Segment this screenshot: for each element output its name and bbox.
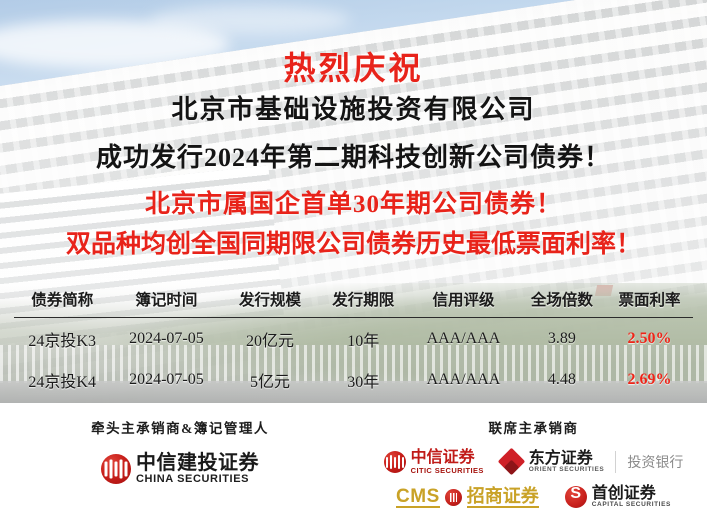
logo-citic-securities[interactable]: 中信证券 CITIC SECURITIES <box>384 450 484 475</box>
headline-celebration: 热烈庆祝 <box>0 52 707 84</box>
col-header-tenor: 发行期限 <box>317 286 409 318</box>
bond-table-head: 债券简称 簿记时间 发行规模 发行期限 信用评级 全场倍数 票面利率 <box>14 286 693 318</box>
table-header-row: 债券简称 簿记时间 发行规模 发行期限 信用评级 全场倍数 票面利率 <box>14 286 693 318</box>
table-row: 24京投K3 2024-07-05 20亿元 10年 AAA/AAA 3.89 … <box>14 318 693 360</box>
citic-seal-icon <box>384 451 406 473</box>
col-header-bond-name: 债券简称 <box>14 286 110 318</box>
cell-coupon-rate: 2.50% <box>606 318 693 360</box>
cell-size: 20亿元 <box>222 318 317 360</box>
joint-underwriters-column: 联席主承销商 中信证券 CITIC SECURIT <box>360 403 707 509</box>
col-header-multiple: 全场倍数 <box>518 286 606 318</box>
logo-text-cn: 中信建投证券 <box>136 453 259 474</box>
cell-bond-name: 24京投K3 <box>14 318 110 360</box>
cell-tenor: 30年 <box>317 359 409 400</box>
logo-orient-securities[interactable]: 东方证券 ORIENT SECURITIES 投资银行 <box>500 450 684 474</box>
col-header-rating: 信用评级 <box>409 286 518 318</box>
cell-rating: AAA/AAA <box>409 318 518 360</box>
lead-underwriter-logo-row: 中信建投证券 CHINA SECURITIES <box>0 453 360 486</box>
joint-underwriter-logo-row-2: CMS 招商证券 首创证券 CAPITAL SECURITIES <box>360 486 707 510</box>
cell-bond-name: 24京投K4 <box>14 359 110 400</box>
headline-issuance-detail: 成功发行2024年第二期科技创新公司债券！ <box>0 145 707 171</box>
logo-china-securities[interactable]: 中信建投证券 CHINA SECURITIES <box>101 453 259 486</box>
cell-size: 5亿元 <box>222 359 317 400</box>
citic-seal-icon <box>101 454 131 484</box>
logo-suffix-investment-banking: 投资银行 <box>627 452 683 472</box>
joint-underwriter-title: 联席主承销商 <box>360 403 707 437</box>
bond-table-body: 24京投K3 2024-07-05 20亿元 10年 AAA/AAA 3.89 … <box>14 318 693 401</box>
cell-multiple: 4.48 <box>518 359 606 400</box>
logo-text-en: CHINA SECURITIES <box>136 474 249 486</box>
cell-book-date: 2024-07-05 <box>110 359 222 400</box>
logo-prefix-cms: CMS <box>396 487 440 509</box>
capital-s-icon <box>565 486 587 508</box>
logo-text-en: CAPITAL SECURITIES <box>592 502 671 509</box>
bond-issuance-poster: 热烈庆祝 北京市基础设施投资有限公司 成功发行2024年第二期科技创新公司债券！… <box>0 0 707 518</box>
headline-issuer-name: 北京市基础设施投资有限公司 <box>0 97 707 123</box>
cell-rating: AAA/AAA <box>409 359 518 400</box>
table-row: 24京投K4 2024-07-05 5亿元 30年 AAA/AAA 4.48 2… <box>14 359 693 400</box>
logo-text-cn: 东方证券 <box>529 451 593 468</box>
joint-underwriter-logo-row-1: 中信证券 CITIC SECURITIES 东方证券 ORIENT SECURI… <box>360 450 707 475</box>
cell-tenor: 10年 <box>317 318 409 360</box>
col-header-coupon-rate: 票面利率 <box>606 286 693 318</box>
logo-text-en: CITIC SECURITIES <box>411 467 484 475</box>
logo-text-cn: 招商证券 <box>467 487 539 508</box>
bond-table-container: 债券简称 簿记时间 发行规模 发行期限 信用评级 全场倍数 票面利率 24京投K… <box>14 286 693 400</box>
logo-text-cn: 中信证券 <box>411 450 475 467</box>
headline-lowest-coupon: 双品种均创全国同期限公司债券历史最低票面利率！ <box>0 232 707 257</box>
bond-table: 债券简称 簿记时间 发行规模 发行期限 信用评级 全场倍数 票面利率 24京投K… <box>14 286 693 400</box>
headline-first-30y-bond: 北京市属国企首单30年期公司债券！ <box>0 192 707 217</box>
logo-capital-securities[interactable]: 首创证券 CAPITAL SECURITIES <box>565 486 671 510</box>
col-header-size: 发行规模 <box>222 286 317 318</box>
cell-multiple: 3.89 <box>518 318 606 360</box>
logo-cms-china-merchants-securities[interactable]: CMS 招商证券 <box>396 487 539 509</box>
col-header-book-date: 簿记时间 <box>110 286 222 318</box>
cell-coupon-rate: 2.69% <box>606 359 693 400</box>
logo-divider <box>615 451 616 473</box>
cell-book-date: 2024-07-05 <box>110 318 222 360</box>
logo-text-en: ORIENT SECURITIES <box>529 467 605 474</box>
lead-underwriter-title: 牵头主承销商&簿记管理人 <box>0 403 360 437</box>
lead-underwriter-column: 牵头主承销商&簿记管理人 中信建投证券 CHINA <box>0 403 360 486</box>
logo-text-cn: 首创证券 <box>592 486 656 503</box>
orient-diamond-icon <box>500 450 524 474</box>
footer: 牵头主承销商&簿记管理人 中信建投证券 CHINA <box>0 403 707 518</box>
cms-badge-icon <box>445 489 462 506</box>
